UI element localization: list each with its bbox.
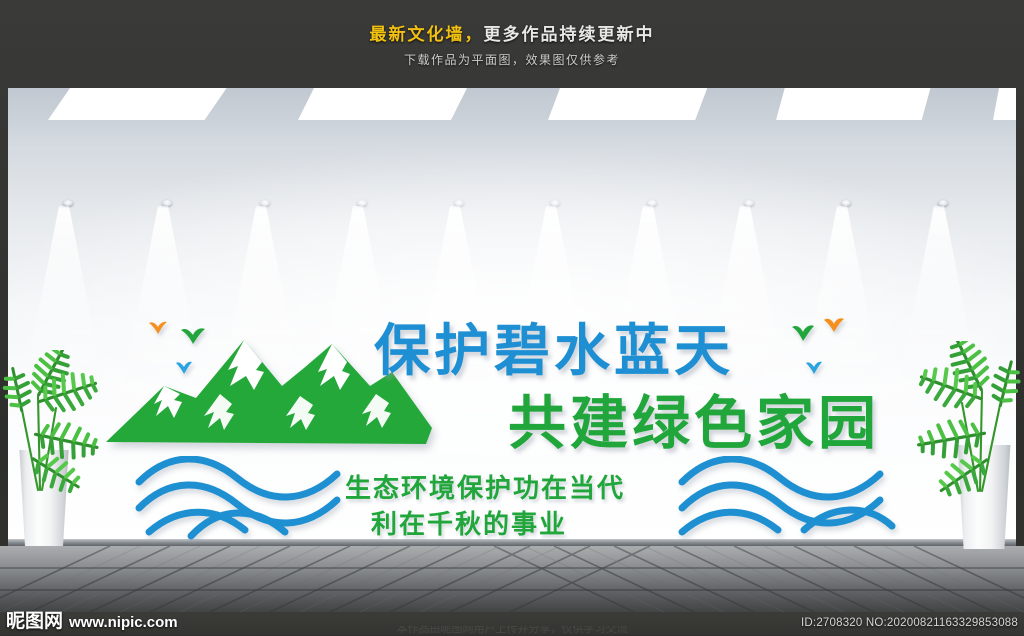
waves-icon <box>133 456 355 542</box>
promo-sub-text: 下载作品为平面图，效果图仅供参考 <box>404 51 620 68</box>
wood-floor <box>0 546 1024 612</box>
waves-icon <box>676 456 898 542</box>
promo-main-rest: 更多作品持续更新中 <box>484 25 655 44</box>
watermark-url: www.nipic.com <box>69 615 178 631</box>
bird-icon <box>791 323 815 343</box>
subtitle-line-2: 利在千秋的事业 <box>371 504 567 541</box>
promo-banner: 最新文化墙，更多作品持续更新中 下载作品为平面图，效果图仅供参考 <box>0 0 1024 88</box>
palm-foliage-icon <box>0 350 116 500</box>
bird-icon <box>175 360 193 376</box>
subtitle-line-1: 生态环境保护功在当代 <box>345 468 625 505</box>
potted-plant-left <box>2 356 120 546</box>
bird-icon <box>805 360 823 376</box>
palm-foliage-icon <box>902 341 1024 501</box>
asset-id-label: ID:2708320 NO:20200821163329853088 <box>801 617 1018 629</box>
bird-icon <box>180 326 206 346</box>
potted-plant-right <box>902 349 1022 549</box>
floor-shading <box>0 546 1024 612</box>
wall-scene: 保护碧水蓝天 共建绿色家园 生态环境保护功在当代 利在千秋的事业 <box>8 88 1016 546</box>
watermark-brand-cn: 昵图网 <box>6 612 63 631</box>
headline-line-2: 共建绿色家园 <box>508 376 880 460</box>
watermark: 昵图网 www.nipic.com <box>6 612 178 631</box>
bird-icon <box>823 316 845 334</box>
bird-icon <box>148 320 168 336</box>
artwork: 保护碧水蓝天 共建绿色家园 生态环境保护功在当代 利在千秋的事业 <box>8 88 1016 546</box>
headline-line-1: 保护碧水蓝天 <box>374 306 734 387</box>
page-background: 最新文化墙，更多作品持续更新中 下载作品为平面图，效果图仅供参考 <box>0 0 1024 635</box>
promo-highlight: 最新文化墙， <box>370 25 484 44</box>
promo-main-text: 最新文化墙，更多作品持续更新中 <box>370 20 655 45</box>
